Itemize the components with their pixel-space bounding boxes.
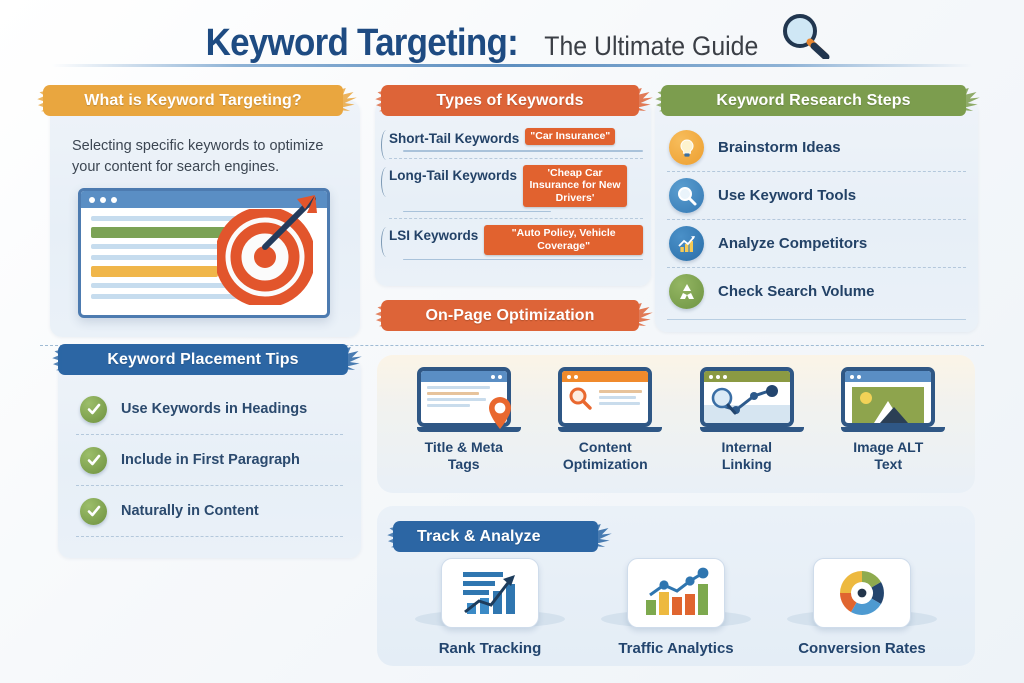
lightbulb-icon: [669, 130, 704, 165]
line-bar-combo-icon: [627, 558, 725, 628]
bar-chart-arrow-icon: [669, 226, 704, 261]
page-title: Keyword Targeting: The Ultimate Guide: [192, 9, 832, 65]
list-item: InternalLinking: [687, 367, 807, 473]
brace-icon: [381, 167, 390, 197]
list-item: Include in First Paragraph: [58, 435, 361, 485]
list-item: Naturally in Content: [58, 486, 361, 536]
on-page-label: ContentOptimization: [545, 439, 665, 473]
step-label: Analyze Competitors: [718, 235, 867, 252]
browser-dot-icon: [100, 197, 106, 203]
track-label: Traffic Analytics: [596, 640, 756, 657]
list-item: LSI Keywords "Auto Policy, Vehicle Cover…: [389, 225, 643, 260]
keyword-example-badge: 'Cheap Car Insurance for New Drivers': [523, 165, 627, 207]
row-divider: [667, 319, 966, 320]
page-header: Keyword Targeting: The Ultimate Guide: [0, 0, 1024, 65]
laptop-link-graph-icon: [700, 367, 794, 433]
card-keyword-research-steps: Keyword Research Steps Brainstorm Ideas …: [655, 100, 978, 332]
banner-placement-tips: Keyword Placement Tips: [58, 344, 348, 375]
card-types-of-keywords: Types of Keywords Short-Tail Keywords "C…: [375, 100, 651, 286]
what-is-description: Selecting specific keywords to optimize …: [72, 136, 338, 178]
title-subtitle: The Ultimate Guide: [545, 31, 759, 62]
tip-label: Use Keywords in Headings: [121, 401, 307, 417]
list-item: Short-Tail Keywords "Car Insurance": [389, 128, 643, 152]
magnifier-icon: [669, 178, 704, 213]
banner-research-steps: Keyword Research Steps: [661, 85, 966, 116]
card-what-is-keyword-targeting: What is Keyword Targeting? Selecting spe…: [50, 100, 360, 337]
recycle-arrows-icon: [669, 274, 704, 309]
list-item: Rank Tracking: [410, 558, 570, 657]
research-steps-list: Brainstorm Ideas Use Keyword Tools Analy…: [655, 100, 978, 320]
keyword-type-name: LSI Keywords: [389, 225, 478, 243]
list-item: Brainstorm Ideas: [655, 124, 978, 171]
title-divider: [52, 64, 972, 67]
list-item: ContentOptimization: [545, 367, 665, 473]
on-page-label: InternalLinking: [687, 439, 807, 473]
laptop-photo-icon: [841, 367, 935, 433]
row-divider: [76, 536, 343, 537]
tip-label: Naturally in Content: [121, 503, 259, 519]
browser-target-illustration: [78, 188, 330, 318]
laptop-map-pin-icon: [417, 367, 511, 433]
track-label: Rank Tracking: [410, 640, 570, 657]
row-divider: [389, 218, 643, 219]
keyword-type-name: Short-Tail Keywords: [389, 128, 519, 146]
list-item: Title & MetaTags: [404, 367, 524, 473]
content-highlight-green: [91, 227, 231, 238]
brace-icon: [381, 227, 390, 257]
keyword-example-badge: "Car Insurance": [525, 128, 615, 145]
panel-on-page-optimization: Title & MetaTags: [377, 355, 975, 493]
card-keyword-placement-tips: Keyword Placement Tips Use Keywords in H…: [58, 358, 361, 558]
list-item: Check Search Volume: [655, 268, 978, 315]
list-item: Use Keywords in Headings: [58, 384, 361, 434]
placement-tips-list: Use Keywords in Headings Include in Firs…: [58, 358, 361, 537]
check-circle-icon: [80, 396, 107, 423]
banner-track-and-analyze: Track & Analyze: [393, 521, 598, 552]
check-circle-icon: [80, 447, 107, 474]
banner-what-is: What is Keyword Targeting?: [43, 85, 343, 116]
check-circle-icon: [80, 498, 107, 525]
brace-icon: [381, 130, 390, 160]
laptop-magnifier-icon: [558, 367, 652, 433]
on-page-label: Image ALTText: [828, 439, 948, 473]
on-page-items: Title & MetaTags: [377, 355, 975, 473]
track-label: Conversion Rates: [782, 640, 942, 657]
magnifying-glass-icon: [778, 13, 832, 64]
keyword-example-badge: "Auto Policy, Vehicle Coverage": [484, 225, 643, 255]
step-label: Brainstorm Ideas: [718, 139, 841, 156]
underline-rule: [403, 150, 643, 152]
content-highlight-yellow: [91, 266, 218, 277]
title-main: Keyword Targeting:: [205, 22, 517, 65]
step-label: Use Keyword Tools: [718, 187, 856, 204]
step-label: Check Search Volume: [718, 283, 874, 300]
keyword-type-name: Long-Tail Keywords: [389, 165, 517, 183]
banner-types-of-keywords: Types of Keywords: [381, 85, 639, 116]
list-item: Traffic Analytics: [596, 558, 756, 657]
list-item: Analyze Competitors: [655, 220, 978, 267]
banner-on-page-optimization: On-Page Optimization: [381, 300, 639, 331]
list-item: Conversion Rates: [782, 558, 942, 657]
keyword-types-list: Short-Tail Keywords "Car Insurance" Long…: [389, 128, 643, 266]
list-item: Image ALTText: [828, 367, 948, 473]
arrow-icon: [235, 193, 319, 282]
on-page-label: Title & MetaTags: [404, 439, 524, 473]
row-divider: [389, 158, 643, 159]
list-item: Long-Tail Keywords 'Cheap Car Insurance …: [389, 165, 643, 213]
underline-rule: [403, 259, 643, 261]
list-item: Use Keyword Tools: [655, 172, 978, 219]
browser-dot-icon: [89, 197, 95, 203]
donut-chart-icon: [813, 558, 911, 628]
underline-rule: [403, 211, 551, 213]
tip-label: Include in First Paragraph: [121, 452, 300, 468]
bar-chart-growth-icon: [441, 558, 539, 628]
browser-dot-icon: [111, 197, 117, 203]
